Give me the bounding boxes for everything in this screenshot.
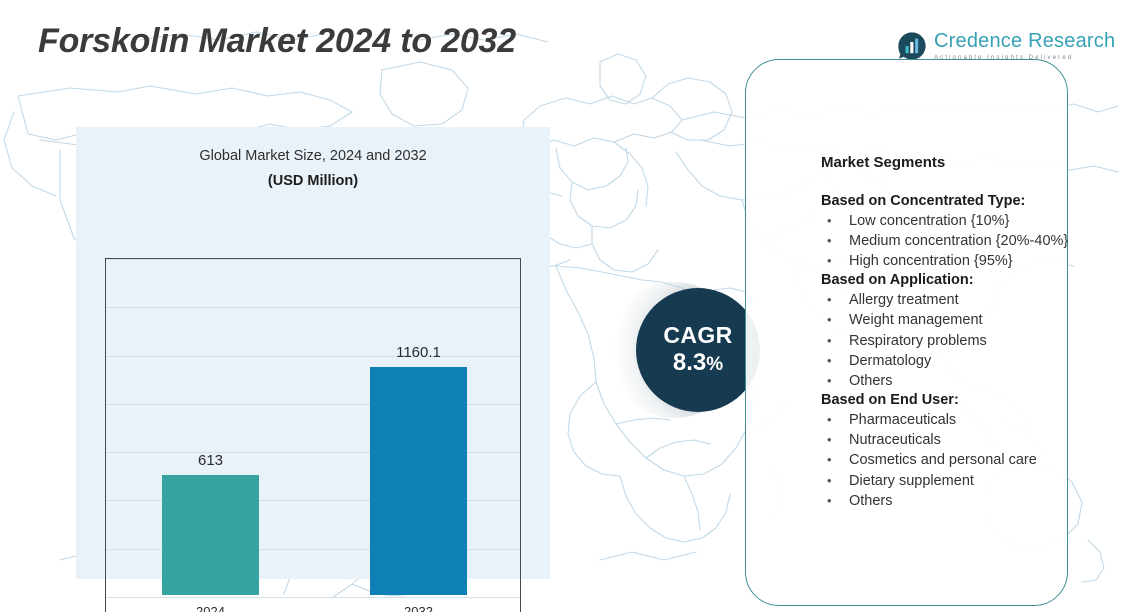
- segment-item-label: Pharmaceuticals: [849, 412, 956, 428]
- segment-item-label: Dietary supplement: [849, 473, 974, 489]
- bar-chart-bubble-icon: [897, 31, 927, 61]
- segment-item-label: Others: [849, 373, 893, 389]
- bar-2032: [370, 367, 467, 595]
- segment-item: •Others: [821, 492, 1121, 511]
- cagr-percent-sign: %: [706, 354, 723, 375]
- bar-2024: [162, 475, 259, 595]
- segment-item-label: Weight management: [849, 312, 983, 328]
- segment-item-label: Others: [849, 493, 893, 509]
- segment-item: •Medium concentration {20%-40%}: [821, 232, 1121, 251]
- cagr-circle: CAGR 8.3%: [636, 288, 760, 412]
- bar-value-2032: 1160.1: [340, 344, 497, 361]
- segment-item-label: Allergy treatment: [849, 292, 959, 308]
- segment-item: •Dietary supplement: [821, 472, 1121, 491]
- segment-item-label: Nutraceuticals: [849, 432, 941, 448]
- segment-item: •High concentration {95%}: [821, 252, 1121, 271]
- segment-item-label: Dermatology: [849, 353, 931, 369]
- segment-group-heading: Based on Application:: [821, 271, 1121, 290]
- segment-item: •Weight management: [821, 311, 1121, 330]
- bullet-icon: •: [827, 252, 832, 269]
- segment-item-list: •Allergy treatment•Weight management•Res…: [821, 291, 1121, 391]
- bullet-icon: •: [827, 332, 832, 349]
- chart-subtitle: (USD Million): [76, 173, 550, 189]
- segment-group: Based on Concentrated Type:•Low concentr…: [821, 192, 1121, 271]
- segment-group: Based on Application:•Allergy treatment•…: [821, 271, 1121, 391]
- segment-item: •Low concentration {10%}: [821, 212, 1121, 231]
- market-segments-groups: Based on Concentrated Type:•Low concentr…: [821, 192, 1121, 511]
- segment-item-list: •Low concentration {10%}•Medium concentr…: [821, 212, 1121, 272]
- bullet-icon: •: [827, 451, 832, 468]
- bullet-icon: •: [827, 411, 832, 428]
- bullet-icon: •: [827, 232, 832, 249]
- segment-item: •Dermatology: [821, 352, 1121, 371]
- segment-item-label: Cosmetics and personal care: [849, 452, 1037, 468]
- infographic-canvas: Forskolin Market 2024 to 2032 Credence R…: [0, 0, 1132, 612]
- segment-item-label: Low concentration {10%}: [849, 213, 1009, 229]
- segment-item: •Nutraceuticals: [821, 431, 1121, 450]
- segment-group-heading: Based on End User:: [821, 391, 1121, 410]
- bullet-icon: •: [827, 212, 832, 229]
- bullet-icon: •: [827, 311, 832, 328]
- logo-wordmark: Credence Research Actionable Insights De…: [934, 31, 1115, 61]
- bullet-icon: •: [827, 352, 832, 369]
- page-title: Forskolin Market 2024 to 2032: [38, 22, 516, 61]
- bar-chart-plot: 61320241160.12032: [105, 258, 521, 612]
- bar-value-2024: 613: [132, 452, 289, 469]
- chart-panel: Global Market Size, 2024 and 2032 (USD M…: [76, 127, 550, 579]
- x-axis-label-2032: 2032: [340, 604, 497, 612]
- bullet-icon: •: [827, 492, 832, 509]
- market-segments-panel: Market Segments Based on Concentrated Ty…: [745, 59, 1068, 606]
- segment-item: •Cosmetics and personal care: [821, 451, 1121, 470]
- cagr-value: 8.3%: [673, 349, 723, 377]
- market-segments-content: Market Segments Based on Concentrated Ty…: [821, 154, 1121, 511]
- segment-group-heading: Based on Concentrated Type:: [821, 192, 1121, 211]
- segment-item-label: Medium concentration {20%-40%}: [849, 233, 1068, 249]
- chart-title: Global Market Size, 2024 and 2032: [76, 148, 550, 164]
- segment-item-label: Respiratory problems: [849, 333, 987, 349]
- bullet-icon: •: [827, 372, 832, 389]
- x-axis-label-2024: 2024: [132, 604, 289, 612]
- segment-item: •Respiratory problems: [821, 332, 1121, 351]
- segment-item-list: •Pharmaceuticals•Nutraceuticals•Cosmetic…: [821, 411, 1121, 511]
- gridline: [106, 307, 520, 308]
- bullet-icon: •: [827, 472, 832, 489]
- gridline: [106, 259, 520, 260]
- brand-logo: Credence Research Actionable Insights De…: [897, 31, 1115, 61]
- cagr-label: CAGR: [663, 323, 732, 348]
- logo-name: Credence Research: [934, 31, 1115, 52]
- market-segments-title: Market Segments: [821, 154, 1121, 171]
- bullet-icon: •: [827, 291, 832, 308]
- cagr-number: 8.3: [673, 349, 706, 376]
- segment-item: •Others: [821, 372, 1121, 391]
- gridline: [106, 597, 520, 598]
- bullet-icon: •: [827, 431, 832, 448]
- segment-item-label: High concentration {95%}: [849, 253, 1013, 269]
- segment-group: Based on End User:•Pharmaceuticals•Nutra…: [821, 391, 1121, 511]
- segment-item: •Pharmaceuticals: [821, 411, 1121, 430]
- segment-item: •Allergy treatment: [821, 291, 1121, 310]
